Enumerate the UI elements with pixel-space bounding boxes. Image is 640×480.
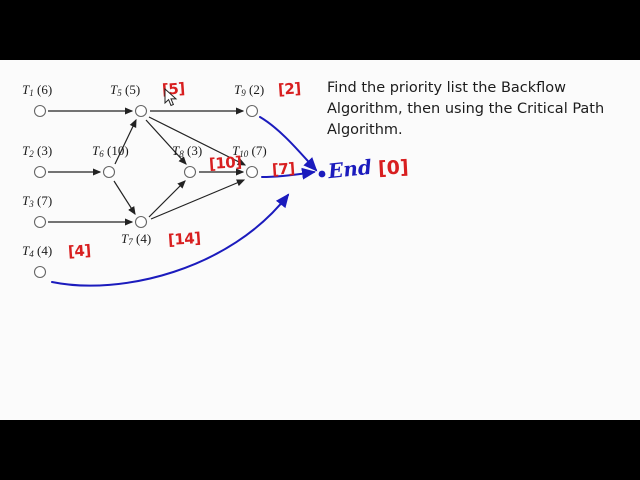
node-t10[interactable] xyxy=(247,167,258,178)
video-frame: T1 (6) T2 (3) T3 (7) T4 (4) T5 (5) T6 (1… xyxy=(0,0,640,480)
node-t6[interactable] xyxy=(104,167,115,178)
annotation-t10: [7] xyxy=(271,159,295,179)
edge-t7-t10 xyxy=(151,180,244,219)
prompt-text: Find the priority list the Backflow Algo… xyxy=(327,78,627,141)
end-node-annotation: [0] xyxy=(377,156,409,180)
task-label-t6: T6 (10) xyxy=(92,143,129,159)
node-end[interactable] xyxy=(319,171,326,178)
node-t2[interactable] xyxy=(35,167,46,178)
node-t3[interactable] xyxy=(35,217,46,228)
edge-t7-t8 xyxy=(149,181,185,217)
node-t8[interactable] xyxy=(185,167,196,178)
node-t9[interactable] xyxy=(247,106,258,117)
task-label-t7: T7 (4) xyxy=(121,231,151,247)
annotation-t7: [14] xyxy=(167,229,201,249)
task-label-t2: T2 (3) xyxy=(22,143,52,159)
node-t1[interactable] xyxy=(35,106,46,117)
edge-t6-t7 xyxy=(114,181,135,214)
annotation-t9: [2] xyxy=(277,79,301,99)
node-t4[interactable] xyxy=(35,267,46,278)
letterbox-top-bar xyxy=(0,0,640,60)
letterbox-bottom-bar xyxy=(0,420,640,480)
annotation-t8: [10] xyxy=(208,153,242,173)
task-label-t4: T4 (4) xyxy=(22,243,52,259)
end-node-label: End xyxy=(327,155,373,183)
task-label-t9: T9 (2) xyxy=(234,82,264,98)
task-label-t1: T1 (6) xyxy=(22,82,52,98)
node-t7[interactable] xyxy=(136,217,147,228)
task-label-t3: T3 (7) xyxy=(22,193,52,209)
mouse-cursor xyxy=(164,88,178,108)
node-t5[interactable] xyxy=(136,106,147,117)
annotation-t4: [4] xyxy=(67,241,91,261)
slide-canvas: T1 (6) T2 (3) T3 (7) T4 (4) T5 (5) T6 (1… xyxy=(0,60,640,420)
task-label-t8: T8 (3) xyxy=(172,143,202,159)
task-label-t5: T5 (5) xyxy=(110,82,140,98)
